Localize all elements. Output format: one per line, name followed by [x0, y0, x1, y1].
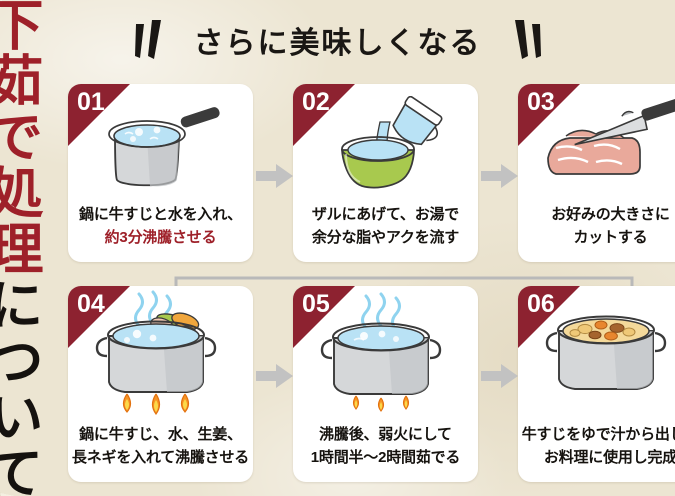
vertical-title-black-part: について [0, 276, 42, 496]
step-caption-02-line2: 余分な脂やアクを流す [293, 227, 478, 250]
step-caption-05: 沸騰後、弱火にして 1時間半〜2時間茹でる [293, 424, 478, 470]
heading-text: さらに美味しくなる [194, 18, 482, 62]
vertical-section-title: 下茹で処理について [0, 0, 38, 496]
step-card-06[interactable]: 06 牛すじをゆで汁から出し、 お料理に使用し完成 [518, 286, 675, 482]
step-caption-05-line1: 沸騰後、弱火にして [293, 424, 478, 447]
step-caption-04-line2: 長ネギを入れて沸騰させる [68, 447, 253, 470]
double-slash-left-icon [124, 18, 180, 62]
vertical-title-red-part: 下茹で処理 [0, 0, 42, 276]
step-caption-01: 鍋に牛すじと水を入れ、 約3分沸騰させる [68, 204, 253, 250]
step-card-02[interactable]: 02 ザルにあげて、お湯で 余分な脂やアクを流す [293, 84, 478, 262]
step-caption-06-line2: お料理に使用し完成 [518, 447, 675, 470]
step-caption-03: お好みの大きさに カットする [518, 204, 675, 250]
step-number-03: 03 [527, 88, 555, 117]
step-number-06: 06 [527, 290, 555, 319]
step-card-01[interactable]: 01 鍋に牛すじと水を入れ、 約3分沸騰させる [68, 84, 253, 262]
saucepan-with-water-icon [95, 98, 227, 198]
arrow-right-icon-1-to-2 [256, 163, 294, 189]
stockpot-simmering-low-flame-icon [316, 290, 456, 416]
step-caption-03-line2: カットする [518, 227, 675, 250]
step-number-01: 01 [77, 88, 105, 117]
step-caption-04-line1: 鍋に牛すじ、水、生姜、 [68, 424, 253, 447]
step-caption-02: ザルにあげて、お湯で 余分な脂やアクを流す [293, 204, 478, 250]
arrow-right-icon-4-to-5 [256, 363, 294, 389]
colander-bowl-pouring-water-icon [320, 96, 452, 200]
step-caption-01-line1: 鍋に牛すじと水を入れ、 [68, 204, 253, 227]
step-caption-05-line2: 1時間半〜2時間茹でる [293, 447, 478, 470]
step-card-04[interactable]: 04 [68, 286, 253, 482]
step-caption-02-line1: ザルにあげて、お湯で [293, 204, 478, 227]
step-number-02: 02 [302, 88, 330, 117]
stockpot-boiling-with-ingredients-icon [91, 290, 231, 416]
step-number-04: 04 [77, 290, 105, 319]
infographic-page: 下茹で処理について さらに美味しくなる 01 [0, 0, 675, 496]
double-slash-right-icon [496, 18, 552, 62]
step-caption-03-line1: お好みの大きさに [518, 204, 675, 227]
arrow-right-icon-5-to-6 [481, 363, 519, 389]
stockpot-finished-stew-icon [541, 299, 675, 419]
step-caption-01-line2: 約3分沸騰させる [68, 227, 253, 250]
step-card-03[interactable]: 03 お好みの大きさに カットする [518, 84, 675, 262]
knife-cutting-meat-icon [536, 98, 675, 198]
step-card-05[interactable]: 05 [293, 286, 478, 482]
step-number-05: 05 [302, 290, 330, 319]
step-caption-06: 牛すじをゆで汁から出し、 お料理に使用し完成 [518, 424, 675, 470]
step-caption-06-line1: 牛すじをゆで汁から出し、 [518, 424, 675, 447]
step-caption-04: 鍋に牛すじ、水、生姜、 長ネギを入れて沸騰させる [68, 424, 253, 470]
page-heading: さらに美味しくなる [0, 14, 675, 66]
arrow-right-icon-2-to-3 [481, 163, 519, 189]
